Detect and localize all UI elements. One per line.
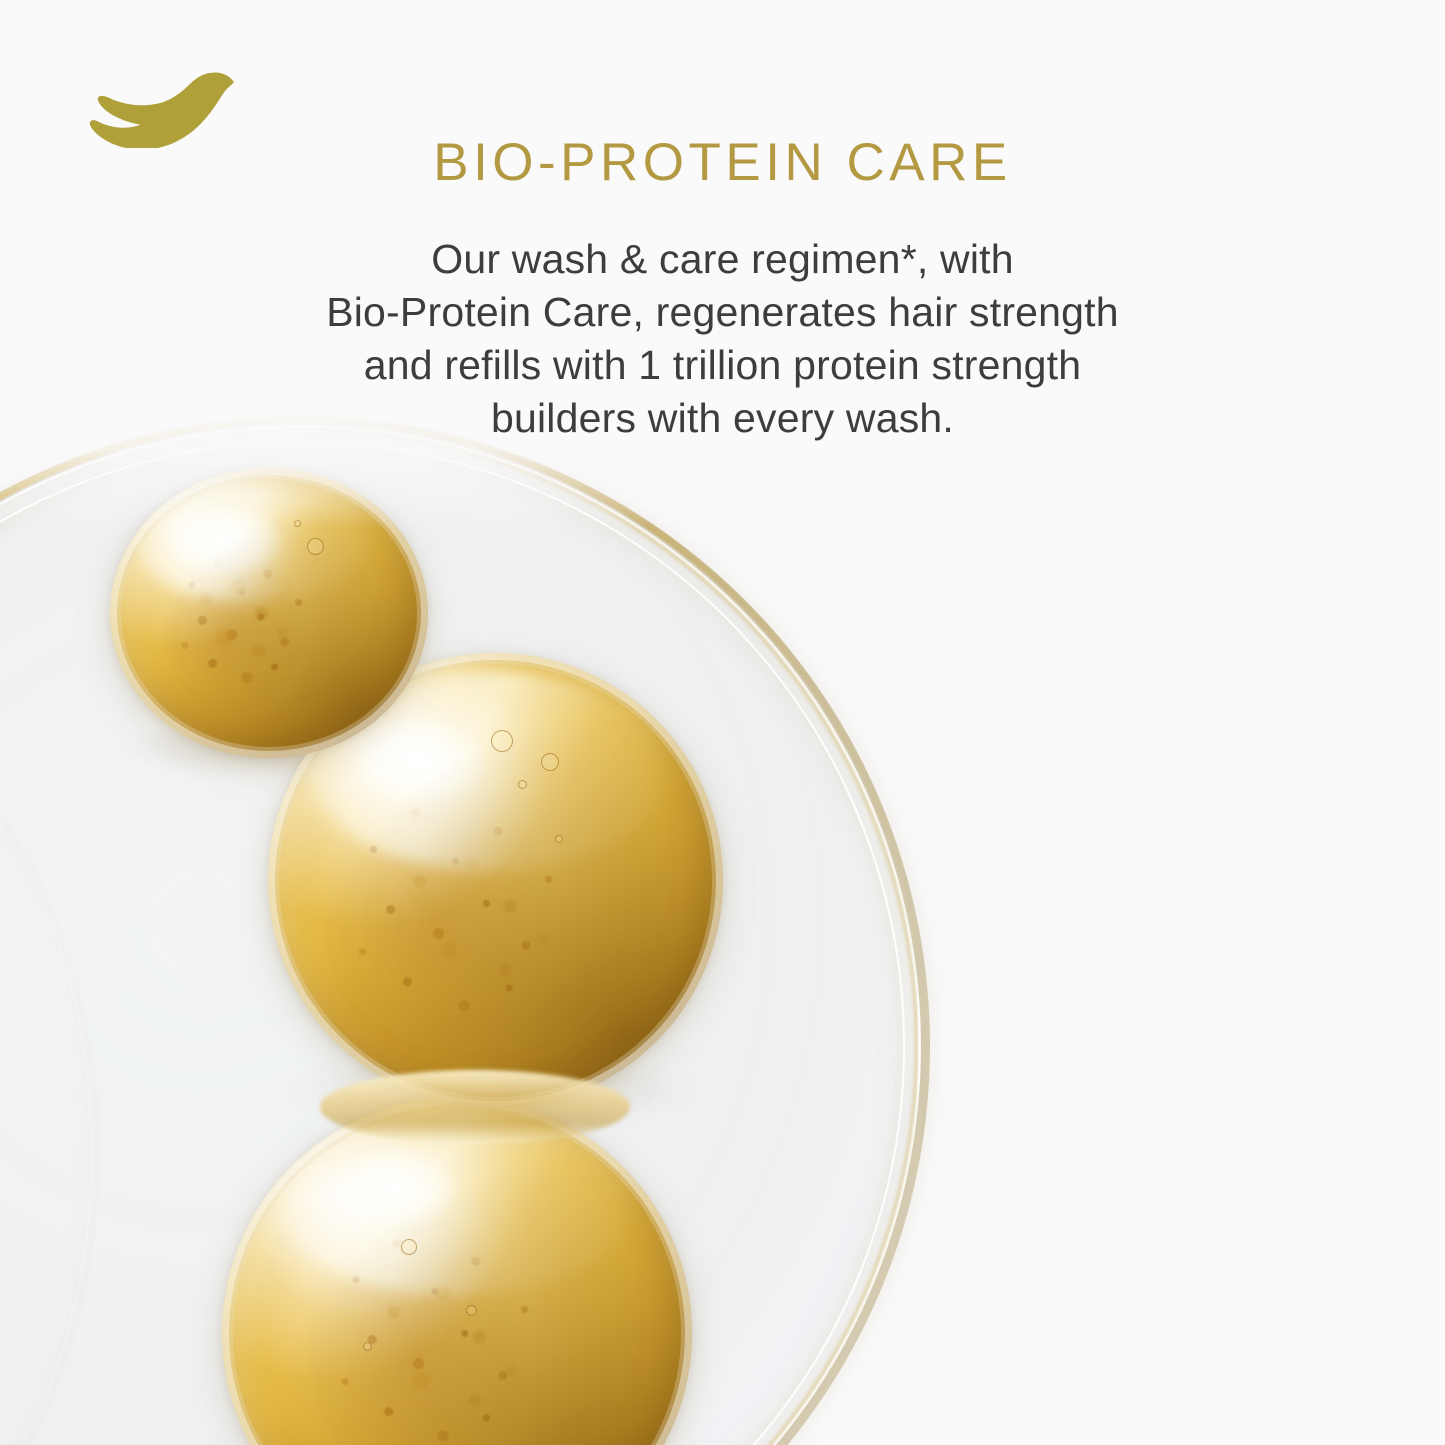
claim-line-2: Bio-Protein Care, regenerates hair stren… (0, 286, 1445, 339)
sphere-contact-meniscus (320, 1070, 630, 1144)
oil-spheres-photograph (0, 398, 1180, 1445)
photo-right-fade (980, 398, 1180, 1445)
bubble-icon (307, 538, 324, 555)
claim-line-4: builders with every wash. (0, 392, 1445, 445)
claim-line-3: and refills with 1 trillion protein stre… (0, 339, 1445, 392)
product-claim-card: BIO-PROTEIN CARE Our wash & care regimen… (0, 0, 1445, 1445)
bubble-icon (555, 835, 563, 843)
claim-line-1: Our wash & care regimen*, with (0, 233, 1445, 286)
claim-body-copy: Our wash & care regimen*, with Bio-Prote… (0, 233, 1445, 445)
bubble-icon (541, 753, 559, 771)
page-title: BIO-PROTEIN CARE (0, 132, 1445, 193)
bubble-icon (401, 1239, 417, 1255)
